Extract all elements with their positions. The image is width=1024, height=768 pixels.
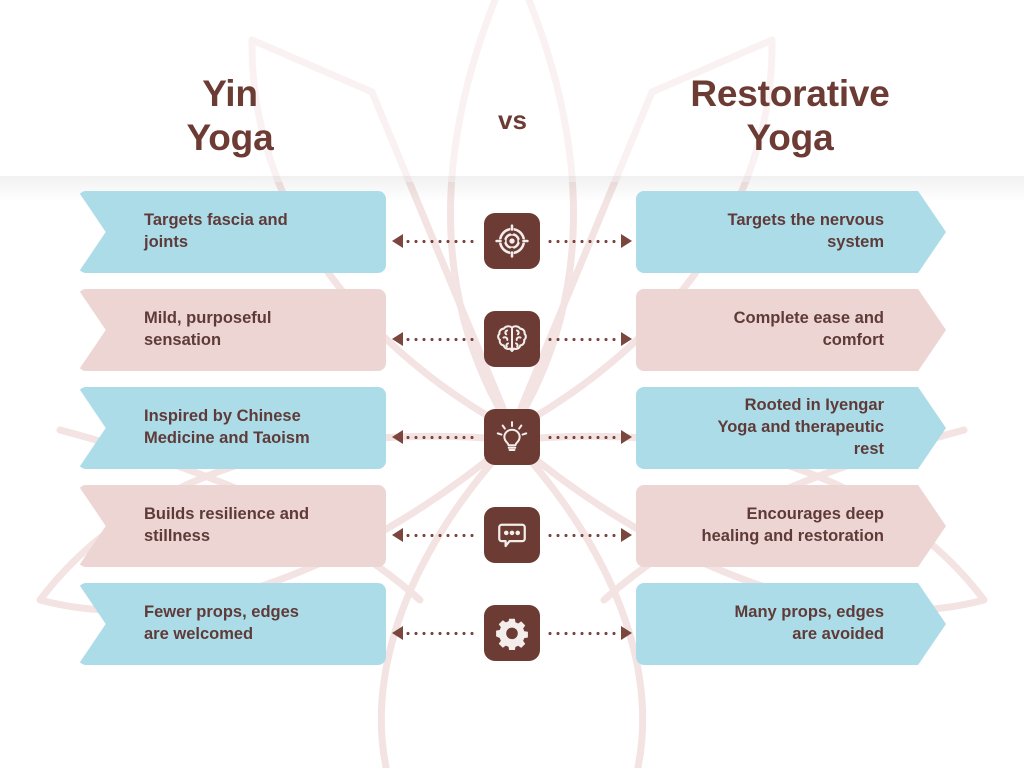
arrow-right-icon: [621, 234, 632, 248]
left-text-line: Targets fascia and: [144, 210, 364, 232]
right-column-title: Restorative Yoga: [645, 72, 935, 159]
right-text-line: Rooted in Iyengar: [658, 395, 884, 417]
dotted-line: [546, 534, 620, 537]
left-column-title: Yin Yoga: [95, 72, 365, 159]
right-text-line: are avoided: [658, 624, 884, 646]
connector-right: [546, 333, 632, 345]
right-text-line: Encourages deep: [658, 504, 884, 526]
connector-left: [392, 431, 478, 443]
row-icon-gear[interactable]: [484, 605, 540, 661]
dotted-line: [546, 240, 620, 243]
arrow-left-icon: [392, 626, 403, 640]
left-text-line: stillness: [144, 526, 364, 548]
arrow-right-icon: [621, 430, 632, 444]
dotted-line: [546, 436, 620, 439]
right-banner[interactable]: Targets the nervous system: [636, 191, 946, 273]
dotted-line: [546, 632, 620, 635]
right-text-line: Yoga and therapeutic: [658, 417, 884, 439]
row-icon-target[interactable]: [484, 213, 540, 269]
arrow-right-icon: [621, 528, 632, 542]
row-icon-speech-bubble[interactable]: [484, 507, 540, 563]
connector-left: [392, 235, 478, 247]
vs-label: vs: [430, 105, 595, 136]
right-text-line: Complete ease and: [658, 308, 884, 330]
dotted-line: [546, 338, 620, 341]
connector-right: [546, 627, 632, 639]
left-banner-text: Mild, purposeful sensation: [144, 308, 364, 352]
left-text-line: Medicine and Taoism: [144, 428, 364, 450]
lightbulb-icon: [495, 420, 529, 454]
left-banner[interactable]: Fewer props, edges are welcomed: [78, 583, 386, 665]
right-banner[interactable]: Rooted in Iyengar Yoga and therapeutic r…: [636, 387, 946, 469]
right-banner[interactable]: Many props, edges are avoided: [636, 583, 946, 665]
dotted-line: [404, 240, 478, 243]
arrow-right-icon: [621, 626, 632, 640]
left-title-line-2: Yoga: [95, 116, 365, 160]
table-row: Fewer props, edges are welcomed Many pro…: [0, 574, 1024, 672]
right-text-line: system: [658, 232, 884, 254]
dotted-line: [404, 338, 478, 341]
left-banner-text: Inspired by Chinese Medicine and Taoism: [144, 406, 364, 450]
table-row: Mild, purposeful sensation: [0, 280, 1024, 378]
right-text-line: rest: [658, 439, 884, 461]
right-text-line: comfort: [658, 330, 884, 352]
left-banner-text: Fewer props, edges are welcomed: [144, 602, 364, 646]
right-title-line-1: Restorative: [645, 72, 935, 116]
arrow-left-icon: [392, 234, 403, 248]
target-icon: [495, 224, 529, 258]
connector-right: [546, 235, 632, 247]
left-banner-text: Targets fascia and joints: [144, 210, 364, 254]
left-banner[interactable]: Builds resilience and stillness: [78, 485, 386, 567]
brain-icon: [495, 322, 529, 356]
table-row: Inspired by Chinese Medicine and Taoism: [0, 378, 1024, 476]
connector-right: [546, 431, 632, 443]
table-row: Builds resilience and stillness Encourag…: [0, 476, 1024, 574]
arrow-left-icon: [392, 332, 403, 346]
left-banner[interactable]: Targets fascia and joints: [78, 191, 386, 273]
right-banner-text: Rooted in Iyengar Yoga and therapeutic r…: [658, 395, 884, 461]
connector-right: [546, 529, 632, 541]
arrow-left-icon: [392, 528, 403, 542]
dotted-line: [404, 534, 478, 537]
table-row: Targets fascia and joints: [0, 182, 1024, 280]
connector-left: [392, 333, 478, 345]
header: Yin Yoga vs Restorative Yoga: [0, 0, 1024, 182]
left-text-line: Builds resilience and: [144, 504, 364, 526]
right-text-line: healing and restoration: [658, 526, 884, 548]
left-text-line: Mild, purposeful: [144, 308, 364, 330]
left-banner[interactable]: Mild, purposeful sensation: [78, 289, 386, 371]
arrow-right-icon: [621, 332, 632, 346]
dotted-line: [404, 436, 478, 439]
right-banner-text: Encourages deep healing and restoration: [658, 504, 884, 548]
comparison-rows: Targets fascia and joints: [0, 182, 1024, 672]
left-text-line: Inspired by Chinese: [144, 406, 364, 428]
speech-bubble-icon: [495, 518, 529, 552]
left-text-line: sensation: [144, 330, 364, 352]
right-banner-text: Targets the nervous system: [658, 210, 884, 254]
right-banner[interactable]: Encourages deep healing and restoration: [636, 485, 946, 567]
right-banner-text: Complete ease and comfort: [658, 308, 884, 352]
gear-icon: [495, 616, 529, 650]
left-title-line-1: Yin: [95, 72, 365, 116]
right-title-line-2: Yoga: [645, 116, 935, 160]
dotted-line: [404, 632, 478, 635]
right-text-line: Many props, edges: [658, 602, 884, 624]
right-text-line: Targets the nervous: [658, 210, 884, 232]
right-banner-text: Many props, edges are avoided: [658, 602, 884, 646]
left-banner-text: Builds resilience and stillness: [144, 504, 364, 548]
connector-left: [392, 529, 478, 541]
left-text-line: joints: [144, 232, 364, 254]
left-banner[interactable]: Inspired by Chinese Medicine and Taoism: [78, 387, 386, 469]
left-text-line: are welcomed: [144, 624, 364, 646]
right-banner[interactable]: Complete ease and comfort: [636, 289, 946, 371]
left-text-line: Fewer props, edges: [144, 602, 364, 624]
row-icon-brain[interactable]: [484, 311, 540, 367]
row-icon-lightbulb[interactable]: [484, 409, 540, 465]
arrow-left-icon: [392, 430, 403, 444]
connector-left: [392, 627, 478, 639]
